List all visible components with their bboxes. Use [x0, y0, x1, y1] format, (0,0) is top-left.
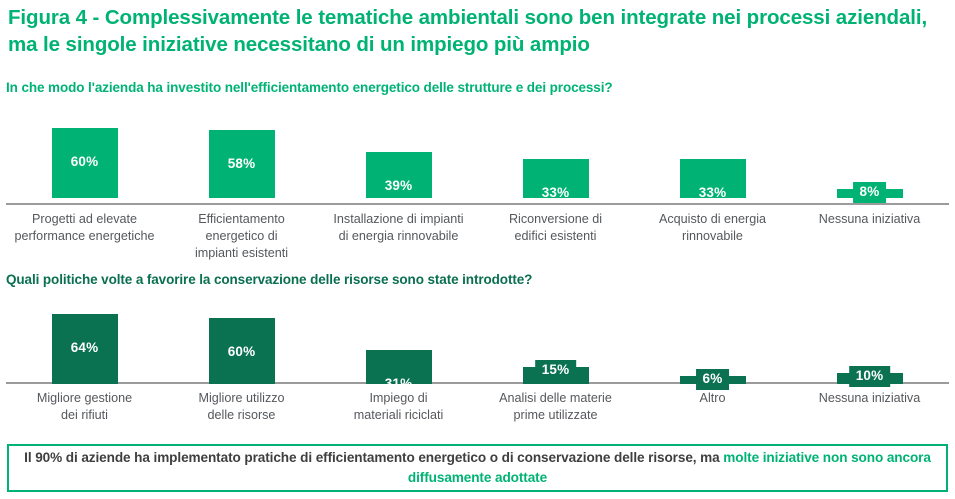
- category-label-line: Efficientamento: [163, 211, 320, 228]
- bar[interactable]: 60%: [209, 318, 275, 384]
- bar-slot: 58%: [163, 110, 320, 205]
- category-label: Migliore gestionedei rifiuti: [6, 390, 163, 424]
- bar-slot: 60%: [163, 296, 320, 384]
- bar-value-label: 31%: [385, 376, 413, 391]
- bar[interactable]: 6%: [680, 376, 746, 384]
- callout-lead-text: Il 90% di aziende ha implementato pratic…: [24, 450, 723, 465]
- category-label-line: Installazione di impianti: [320, 211, 477, 228]
- bar-slot: 6%: [634, 296, 791, 384]
- bar[interactable]: 58%: [209, 130, 275, 198]
- plot-area-1: 60%58%39%33%33%8%: [0, 110, 955, 205]
- category-label: Installazione di impiantidi energia rinn…: [320, 211, 477, 245]
- bar-slot: 60%: [6, 110, 163, 205]
- category-label-line: Migliore utilizzo: [163, 390, 320, 407]
- category-label: Altro: [634, 390, 791, 407]
- bar-value-label: 33%: [542, 185, 570, 200]
- bar[interactable]: 64%: [52, 314, 118, 384]
- bar-series-1: 60%58%39%33%33%8%: [0, 110, 955, 205]
- bar-value-label: 39%: [385, 178, 413, 193]
- category-label-line: Riconversione di: [477, 211, 634, 228]
- bar-series-2: 64%60%31%15%6%10%: [0, 296, 955, 384]
- bar[interactable]: 8%: [837, 189, 903, 198]
- category-label-line: Altro: [634, 390, 791, 407]
- bar-slot: 39%: [320, 110, 477, 205]
- category-label-line: Acquisto di energia: [634, 211, 791, 228]
- category-label-line: Nessuna iniziativa: [791, 390, 948, 407]
- category-label-line: prime utilizzate: [477, 407, 634, 424]
- bar-value-label: 6%: [696, 369, 730, 390]
- bar-slot: 64%: [6, 296, 163, 384]
- bar-slot: 10%: [791, 296, 948, 384]
- category-label-line: impianti esistenti: [163, 245, 320, 262]
- bar[interactable]: 39%: [366, 152, 432, 198]
- category-label: Progetti ad elevateperformance energetic…: [6, 211, 163, 245]
- bar-value-label: 60%: [228, 344, 256, 359]
- summary-callout: Il 90% di aziende ha implementato pratic…: [7, 444, 948, 492]
- category-label-line: Nessuna iniziativa: [791, 211, 948, 228]
- category-label-line: edifici esistenti: [477, 228, 634, 245]
- category-label-line: dei rifiuti: [6, 407, 163, 424]
- category-label-line: Migliore gestione: [6, 390, 163, 407]
- category-label-line: di energia rinnovabile: [320, 228, 477, 245]
- category-label-line: materiali riciclati: [320, 407, 477, 424]
- bar-value-label: 64%: [71, 340, 99, 355]
- bar-value-label: 58%: [228, 156, 256, 171]
- bar-value-label: 8%: [853, 182, 887, 203]
- bar[interactable]: 33%: [680, 159, 746, 198]
- bar[interactable]: 31%: [366, 350, 432, 384]
- bar[interactable]: 33%: [523, 159, 589, 198]
- category-label: Efficientamentoenergetico diimpianti esi…: [163, 211, 320, 262]
- bar-value-label: 10%: [849, 366, 891, 387]
- category-label: Riconversione diedifici esistenti: [477, 211, 634, 245]
- category-label: Nessuna iniziativa: [791, 390, 948, 407]
- bar-slot: 15%: [477, 296, 634, 384]
- bar-chart-energy-efficiency: 60%58%39%33%33%8% Progetti ad elevateper…: [0, 110, 955, 260]
- bar[interactable]: 60%: [52, 128, 118, 198]
- category-label-line: Progetti ad elevate: [6, 211, 163, 228]
- bar[interactable]: 10%: [837, 373, 903, 384]
- category-label: Acquisto di energiarinnovabile: [634, 211, 791, 245]
- bar-slot: 31%: [320, 296, 477, 384]
- page-title: Figura 4 - Complessivamente le tematiche…: [8, 4, 952, 58]
- summary-callout-text: Il 90% di aziende ha implementato pratic…: [23, 448, 932, 489]
- category-label-line: Impiego di: [320, 390, 477, 407]
- category-label-line: energetico di: [163, 228, 320, 245]
- category-label-line: Analisi delle materie: [477, 390, 634, 407]
- bar-value-label: 15%: [535, 360, 577, 381]
- bar-value-label: 60%: [71, 154, 99, 169]
- chart-question-2: Quali politiche volte a favorire la cons…: [6, 272, 532, 287]
- bar[interactable]: 15%: [523, 367, 589, 384]
- category-label-line: rinnovabile: [634, 228, 791, 245]
- category-label: Analisi delle materieprime utilizzate: [477, 390, 634, 424]
- category-label: Impiego dimateriali riciclati: [320, 390, 477, 424]
- plot-area-2: 64%60%31%15%6%10%: [0, 296, 955, 384]
- category-label: Nessuna iniziativa: [791, 211, 948, 228]
- category-label-line: performance energetiche: [6, 228, 163, 245]
- bar-chart-resource-conservation: 64%60%31%15%6%10% Migliore gestionedei r…: [0, 296, 955, 436]
- bar-slot: 33%: [477, 110, 634, 205]
- chart-question-1: In che modo l'azienda ha investito nell'…: [6, 80, 613, 95]
- bar-value-label: 33%: [699, 185, 727, 200]
- category-label: Migliore utilizzodelle risorse: [163, 390, 320, 424]
- bar-slot: 33%: [634, 110, 791, 205]
- bar-slot: 8%: [791, 110, 948, 205]
- category-label-line: delle risorse: [163, 407, 320, 424]
